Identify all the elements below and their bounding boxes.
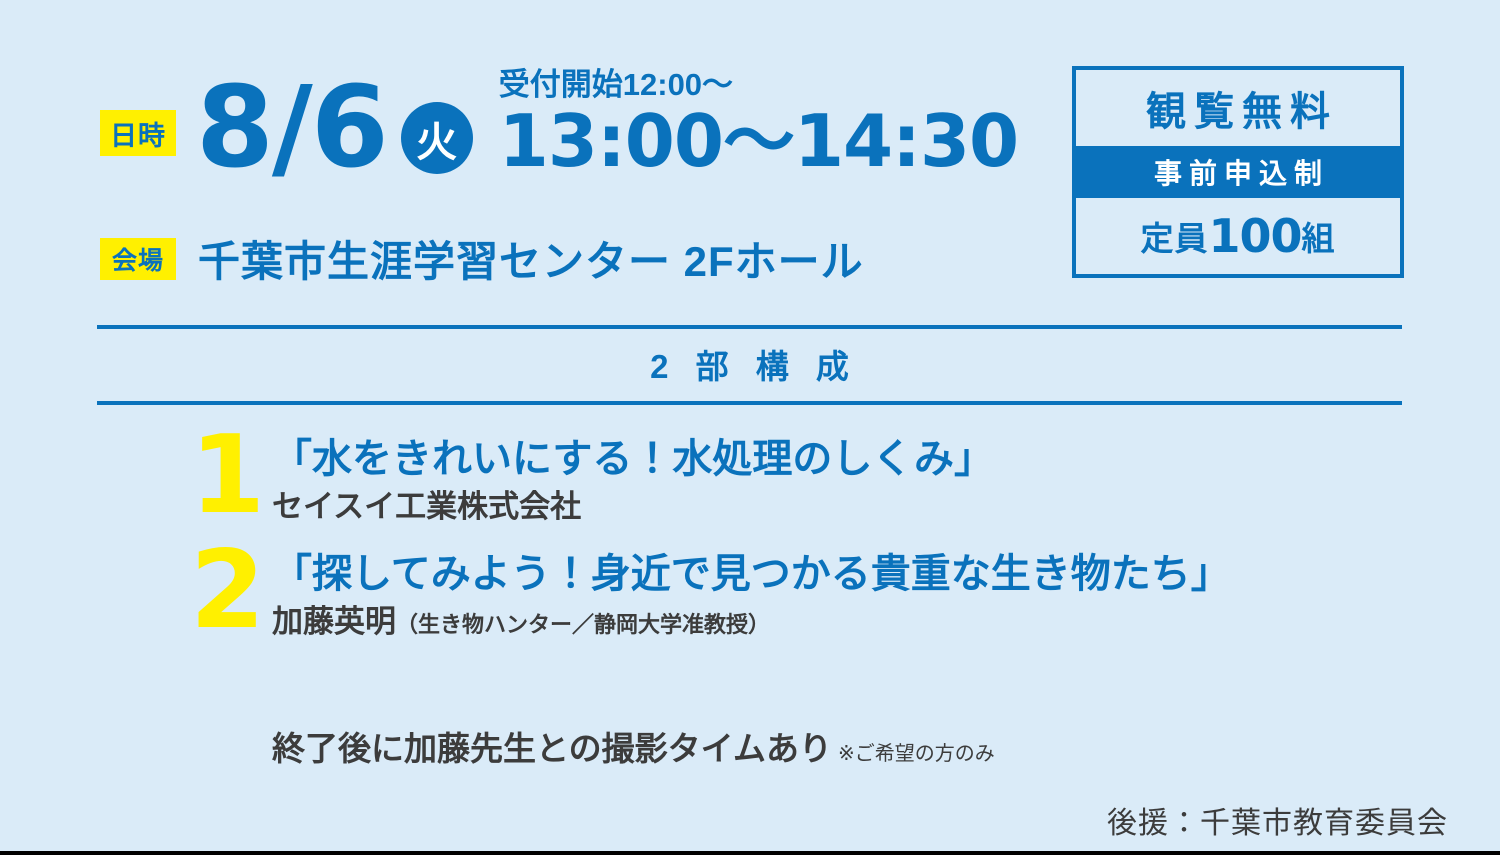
program-body: 「水をきれいにする！水処理のしくみ」 セイスイ工業株式会社 bbox=[272, 432, 994, 525]
section-title: 2 部 構 成 bbox=[97, 340, 1402, 388]
program-number: 1 bbox=[190, 432, 272, 521]
date-row: 日時 8/6 火 受付開始12:00〜 13:00〜14:30 bbox=[100, 62, 1018, 184]
venue-name: 千葉市生涯学習センター 2Fホール bbox=[198, 228, 864, 289]
event-date: 8/6 bbox=[196, 72, 387, 184]
program-title: 「水をきれいにする！水処理のしくみ」 bbox=[272, 436, 994, 482]
program-list: 1 「水をきれいにする！水処理のしくみ」 セイスイ工業株式会社 2 「探してみよ… bbox=[190, 432, 1420, 662]
program-body: 「探してみよう！身近で見つかる貴重な生き物たち」 加藤英明（生き物ハンター／静岡… bbox=[272, 547, 1231, 640]
program-item: 1 「水をきれいにする！水処理のしくみ」 セイスイ工業株式会社 bbox=[190, 432, 1420, 525]
photo-time-note: 終了後に加藤先生との撮影タイムあり※ご希望の方のみ bbox=[272, 722, 995, 770]
program-number: 2 bbox=[190, 547, 272, 636]
weekday-circle-badge: 火 bbox=[401, 102, 473, 174]
capacity-number: 100 bbox=[1208, 209, 1301, 263]
photo-time-condition: ※ご希望の方のみ bbox=[838, 743, 995, 765]
program-presenter-note: （生き物ハンター／静岡大学准教授） bbox=[396, 612, 770, 637]
venue-row: 会場 千葉市生涯学習センター 2Fホール bbox=[100, 228, 864, 289]
reception-time: 受付開始12:00〜 bbox=[499, 67, 733, 102]
program-subtitle: セイスイ工業株式会社 bbox=[272, 488, 994, 525]
divider-top bbox=[97, 325, 1402, 329]
info-box: 観覧無料 事前申込制 定員100組 bbox=[1072, 66, 1404, 278]
program-title: 「探してみよう！身近で見つかる貴重な生き物たち」 bbox=[272, 551, 1231, 597]
program-subtitle: 加藤英明（生き物ハンター／静岡大学准教授） bbox=[272, 603, 1231, 640]
divider-bottom bbox=[97, 401, 1402, 405]
photo-time-text: 終了後に加藤先生との撮影タイムあり bbox=[272, 730, 832, 767]
date-label-badge: 日時 bbox=[100, 110, 176, 156]
capacity-suffix: 組 bbox=[1302, 212, 1336, 260]
support-credit: 後援：千葉市教育委員会 bbox=[1107, 798, 1448, 842]
event-poster: { "background_color": "#daebf8", "accent… bbox=[0, 0, 1500, 855]
program-presenter: 加藤英明 bbox=[272, 604, 396, 639]
venue-label-badge: 会場 bbox=[100, 238, 176, 280]
advance-application-row: 事前申込制 bbox=[1076, 146, 1400, 198]
capacity-row: 定員100組 bbox=[1076, 198, 1400, 274]
program-item: 2 「探してみよう！身近で見つかる貴重な生き物たち」 加藤英明（生き物ハンター／… bbox=[190, 547, 1420, 640]
program-presenter: セイスイ工業株式会社 bbox=[272, 489, 581, 524]
time-block: 受付開始12:00〜 13:00〜14:30 bbox=[499, 68, 1018, 180]
event-time-range: 13:00〜14:30 bbox=[499, 104, 1018, 180]
capacity-prefix: 定員 bbox=[1140, 212, 1208, 260]
admission-free-row: 観覧無料 bbox=[1076, 70, 1400, 146]
